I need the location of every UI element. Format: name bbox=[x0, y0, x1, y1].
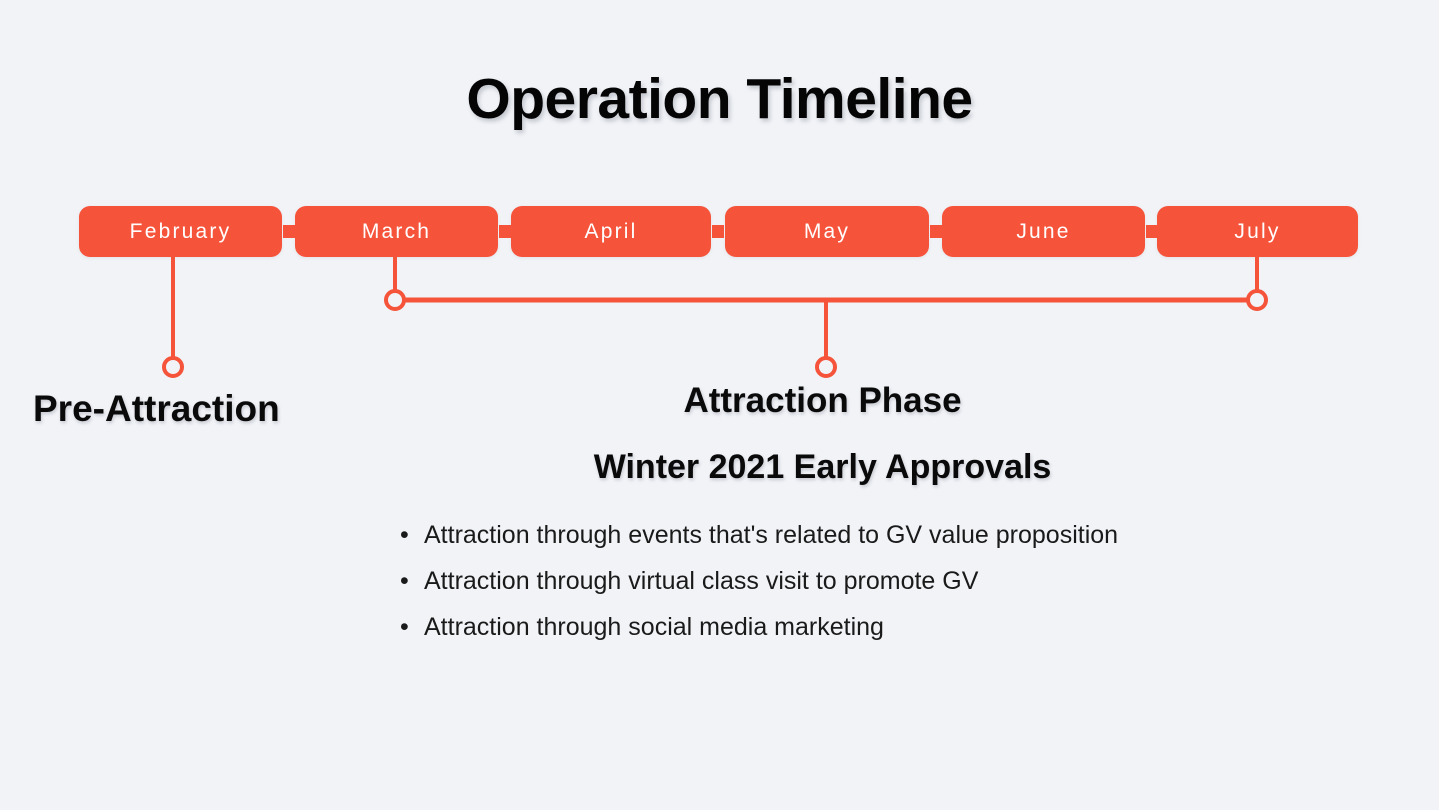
month-bar-july[interactable]: July bbox=[1157, 206, 1358, 257]
month-label-june: June bbox=[1016, 220, 1070, 244]
label-attraction-phase: Attraction Phase bbox=[103, 381, 1439, 421]
label-subheading: Winter 2021 Early Approvals bbox=[103, 448, 1439, 487]
bar-connector-1 bbox=[283, 225, 295, 238]
bullet-marker-icon: • bbox=[400, 604, 409, 650]
month-label-may: May bbox=[804, 220, 850, 244]
month-bar-may[interactable]: May bbox=[725, 206, 929, 257]
timeline-slide: Operation Timeline February March April … bbox=[0, 0, 1439, 810]
bullet-marker-icon: • bbox=[400, 558, 409, 604]
month-bar-june[interactable]: June bbox=[942, 206, 1145, 257]
bar-connector-2 bbox=[499, 225, 511, 238]
month-label-february: February bbox=[130, 220, 232, 244]
month-label-march: March bbox=[362, 220, 431, 244]
list-item-text: Attraction through virtual class visit t… bbox=[424, 567, 978, 595]
marker-circle-pre-attraction bbox=[164, 358, 182, 376]
month-label-april: April bbox=[584, 220, 637, 244]
list-item-text: Attraction through events that's related… bbox=[424, 521, 1118, 549]
marker-circle-attraction-phase bbox=[817, 358, 835, 376]
list-item-text: Attraction through social media marketin… bbox=[424, 613, 884, 641]
bar-connector-4 bbox=[930, 225, 942, 238]
list-item: • Attraction through events that's relat… bbox=[424, 512, 1424, 558]
list-item: • Attraction through virtual class visit… bbox=[424, 558, 1424, 604]
marker-circle-bracket-right bbox=[1248, 291, 1266, 309]
month-label-july: July bbox=[1234, 220, 1280, 244]
marker-circle-bracket-left bbox=[386, 291, 404, 309]
month-bar-april[interactable]: April bbox=[511, 206, 711, 257]
timeline-month-bar-row: February March April May June July bbox=[79, 206, 1358, 257]
page-title: Operation Timeline bbox=[0, 68, 1439, 131]
bar-connector-3 bbox=[712, 225, 724, 238]
month-bar-february[interactable]: February bbox=[79, 206, 282, 257]
bullet-marker-icon: • bbox=[400, 512, 409, 558]
attraction-phase-bullet-list: • Attraction through events that's relat… bbox=[396, 512, 1424, 650]
list-item: • Attraction through social media market… bbox=[424, 604, 1424, 650]
month-bar-march[interactable]: March bbox=[295, 206, 498, 257]
bar-connector-5 bbox=[1146, 225, 1158, 238]
